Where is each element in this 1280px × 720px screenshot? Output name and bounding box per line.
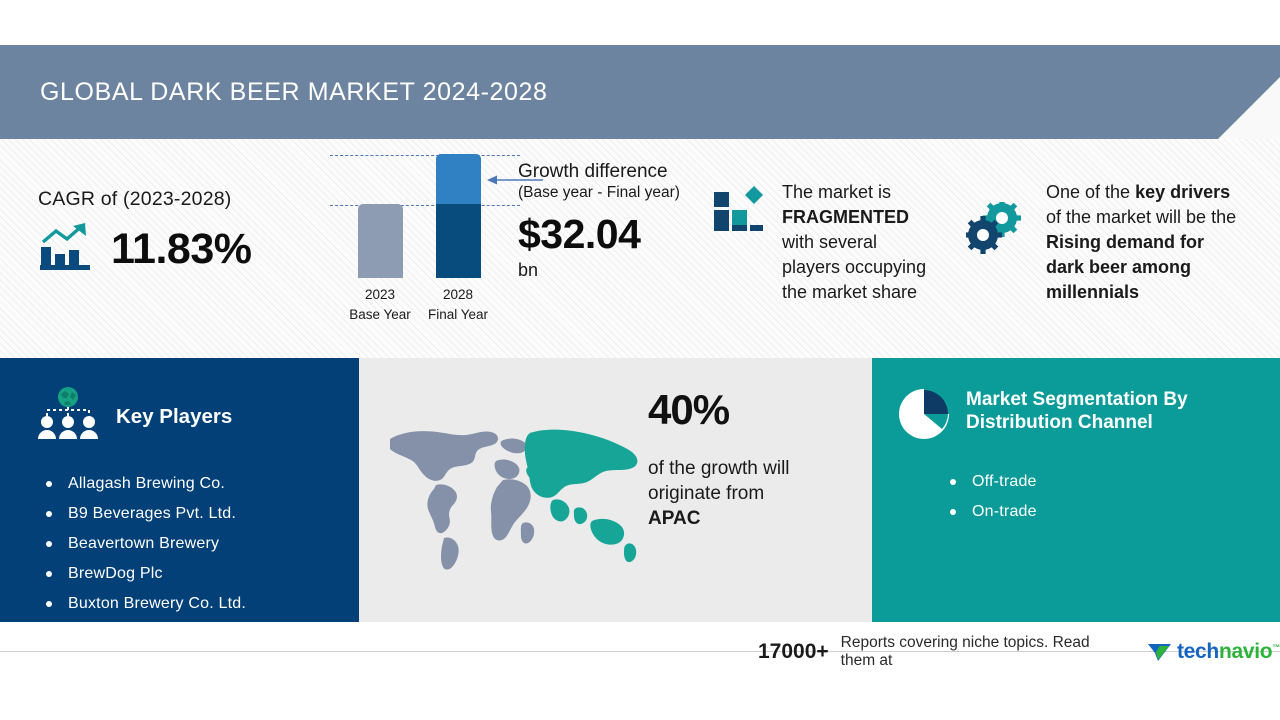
growth-value: $32.04 [518,211,718,258]
list-item: Allagash Brewing Co. [46,469,359,499]
bar-comparison-chart: 2023 Base Year 2028 Final Year [330,155,520,325]
region-map-panel: 40% of the growth will originate from AP… [359,358,872,622]
region-line-1: of the growth will [648,458,790,479]
bar-chart-growth-icon [38,223,93,276]
region-stat-block: 40% of the growth will originate from AP… [648,386,858,531]
key-players-list: Allagash Brewing Co. B9 Beverages Pvt. L… [46,469,359,619]
gears-icon [966,202,1028,305]
cagr-label: CAGR of (2023-2028) [38,188,318,211]
region-bold: APAC [648,508,700,529]
page-title: GLOBAL DARK BEER MARKET 2024-2028 [40,78,548,107]
frag-line-2: with several [782,232,877,252]
drv-bold-3: dark beer among [1046,257,1191,277]
region-line-2: originate from [648,483,764,504]
key-drivers-text: One of the key drivers of the market wil… [1046,180,1266,305]
drv-line-2: of the market will be the [1046,207,1236,227]
pie-chart-icon [898,388,950,445]
fragmentation-text: The market is FRAGMENTED with several pl… [782,180,954,305]
region-percent: 40% [648,386,858,434]
world-map [380,410,650,575]
header-corner-cut [1216,75,1280,139]
frag-line-3: players occupying [782,257,926,277]
bar-final-year [436,154,481,278]
segmentation-list: Off-trade On-trade [950,467,1280,527]
list-item: BrewDog Plc [46,559,359,589]
logo-trademark: ™ [1272,643,1280,652]
key-drivers-block: One of the key drivers of the market wil… [966,180,1266,305]
list-item: Off-trade [950,467,1280,497]
logo-text-navio: navio [1219,640,1272,663]
logo-text-tech: tech [1177,640,1219,663]
drv-bold-2: Rising demand for [1046,232,1204,252]
segmentation-title: Market Segmentation By Distribution Chan… [966,388,1216,434]
frag-line-1: The market is [782,182,891,202]
growth-difference-block: Growth difference (Base year - Final yea… [518,160,718,281]
header-banner: GLOBAL DARK BEER MARKET 2024-2028 [0,45,1280,139]
growth-title: Growth difference [518,160,718,183]
list-item: B9 Beverages Pvt. Ltd. [46,499,359,529]
segmentation-panel: Market Segmentation By Distribution Chan… [872,358,1280,622]
fragmented-squares-icon [712,180,764,305]
cagr-block: CAGR of (2023-2028) 11.83% [38,188,318,276]
bar-growth-segment [436,154,481,204]
technavio-mark-icon [1147,641,1173,663]
list-item: On-trade [950,497,1280,527]
dashed-line-final [330,155,520,156]
key-players-title: Key Players [116,405,232,429]
frag-bold-1: FRAGMENTED [782,207,909,227]
growth-unit: bn [518,260,718,281]
footer: 17000+ Reports covering niche topics. Re… [758,634,1280,670]
key-players-panel: Key Players Allagash Brewing Co. B9 Beve… [0,358,359,622]
footer-tagline: Reports covering niche topics. Read them… [841,634,1125,670]
report-count: 17000+ [758,640,829,664]
org-chart-globe-icon [34,386,102,447]
list-item: Buxton Brewery Co. Ltd. [46,589,359,619]
list-item: Beavertown Brewery [46,529,359,559]
drv-bold-4: millennials [1046,282,1139,302]
technavio-logo[interactable]: technavio™ [1147,640,1280,664]
region-description: of the growth will originate from APAC [648,456,858,531]
cagr-value: 11.83% [111,225,251,274]
frag-line-4: the market share [782,282,917,302]
growth-subtitle: (Base year - Final year) [518,183,718,203]
fragmentation-block: The market is FRAGMENTED with several pl… [712,180,954,305]
infographic-root: GLOBAL DARK BEER MARKET 2024-2028 CAGR o… [0,0,1280,720]
bar-caption-final: 2028 Final Year [403,285,513,325]
drv-bold-1: key drivers [1135,182,1230,202]
bar-base-year [358,204,403,278]
drv-line-1: One of the [1046,182,1135,202]
